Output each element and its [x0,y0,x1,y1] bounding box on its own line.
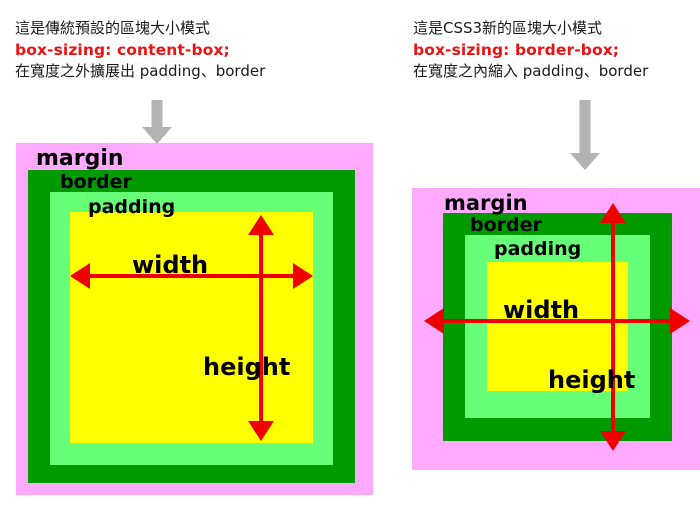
arrow-head-left [424,308,444,334]
panel-border-box-header: 這是CSS3新的區塊大小模式 box-sizing: border-box; 在… [413,18,648,83]
header-line-note: 在寬度之外擴展出 padding、border [15,61,265,82]
box-model-content-box: margin border padding width height [16,143,373,495]
diagram-canvas: 這是傳統預設的區塊大小模式 box-sizing: content-box; 在… [0,0,700,514]
width-label: width [132,253,208,277]
arrow-bar [259,228,263,428]
height-measure-arrow [598,203,628,451]
border-label: border [60,173,132,192]
arrow-head-right [670,308,690,334]
padding-label: padding [494,240,581,259]
down-arrow-icon [570,100,600,170]
down-arrow-icon [142,100,172,144]
header-line-code: box-sizing: content-box; [15,39,265,61]
arrow-head [142,127,172,144]
margin-label: margin [36,148,124,170]
header-line-note: 在寬度之內縮入 padding、border [413,61,648,82]
arrow-head-left [70,263,90,289]
height-label: height [203,355,290,379]
panel-content-box-header: 這是傳統預設的區塊大小模式 box-sizing: content-box; 在… [15,18,265,83]
content-layer [70,212,313,443]
header-line-code: box-sizing: border-box; [413,39,648,61]
arrow-head-bottom [600,431,626,451]
padding-label: padding [88,198,175,217]
header-line-description: 這是傳統預設的區塊大小模式 [15,18,265,39]
arrow-head-top [248,215,274,235]
height-label: height [548,368,635,392]
arrow-shaft [580,100,591,155]
box-model-border-box: margin border padding width height [412,188,700,470]
arrow-head [570,153,600,170]
arrow-bar [611,216,615,438]
height-measure-arrow [246,215,276,441]
header-line-description: 這是CSS3新的區塊大小模式 [413,18,648,39]
border-label: border [470,216,542,235]
width-label: width [503,298,579,322]
margin-label: margin [444,193,528,214]
arrow-head-bottom [248,421,274,441]
arrow-head-right [293,263,313,289]
arrow-shaft [152,100,163,129]
arrow-head-top [600,203,626,223]
